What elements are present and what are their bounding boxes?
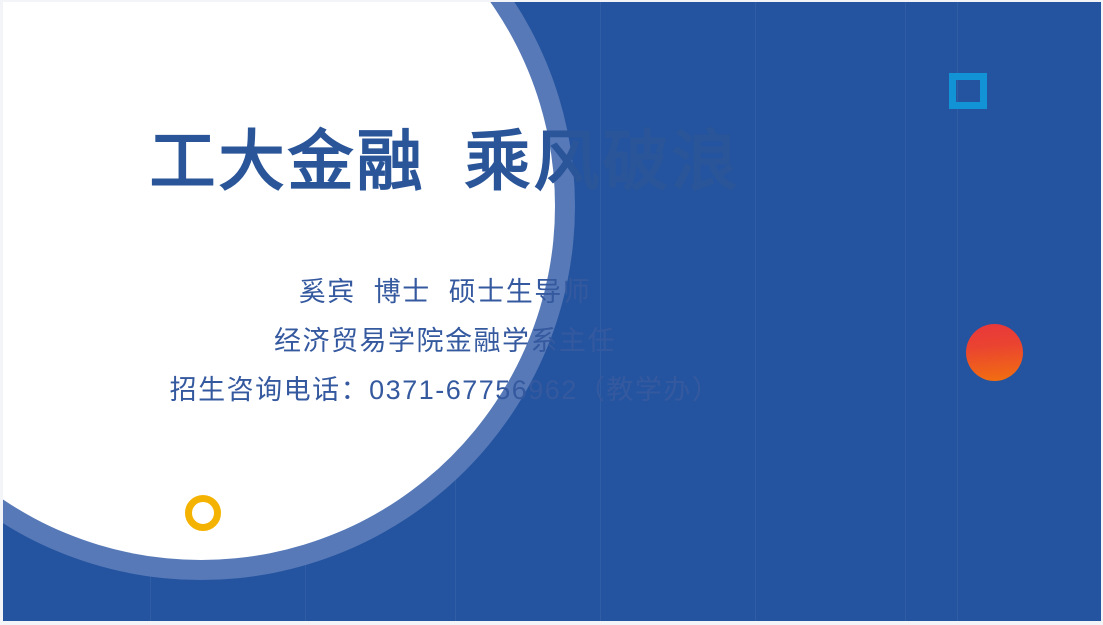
slide-text-layer: 工大金融 乘风破浪 奚宾 博士 硕士生导师 经济贸易学院金融学系主任 招生咨询电…: [0, 0, 1103, 625]
subtitle-line-affiliation: 经济贸易学院金融学系主任: [0, 317, 890, 366]
slide-frame-left-edge: [0, 0, 3, 625]
slide-subtitle-block: 奚宾 博士 硕士生导师 经济贸易学院金融学系主任 招生咨询电话：0371-677…: [0, 268, 890, 415]
slide-frame-top-edge: [0, 0, 1103, 2]
subtitle-line-contact-phone: 招生咨询电话：0371-67756962（教学办）: [0, 366, 890, 415]
slide-frame-bottom-edge: [0, 621, 1103, 625]
slide-title: 工大金融 乘风破浪: [0, 128, 890, 197]
presentation-slide: 工大金融 乘风破浪 奚宾 博士 硕士生导师 经济贸易学院金融学系主任 招生咨询电…: [0, 0, 1103, 625]
subtitle-line-presenter: 奚宾 博士 硕士生导师: [0, 268, 890, 317]
